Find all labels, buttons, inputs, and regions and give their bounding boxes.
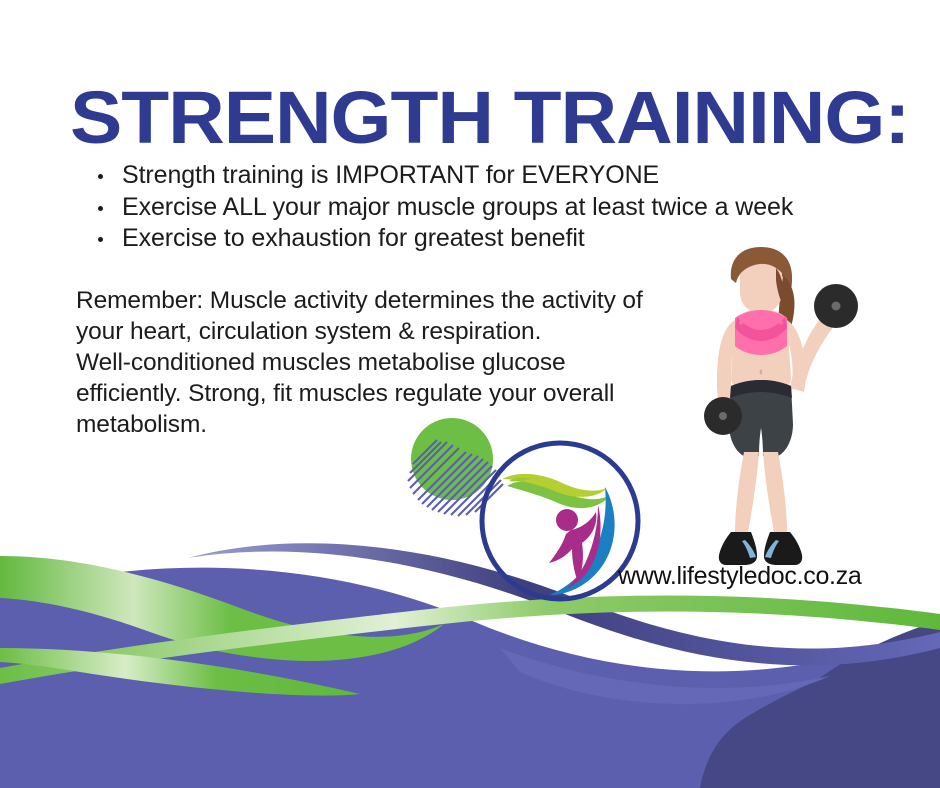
woman-bra-strap-right [778,316,783,325]
woman-shorts-right-leg [762,398,792,456]
woman-hair-top [731,247,792,298]
woman-right-shoe [764,532,802,565]
woman-right-hand [822,299,841,321]
list-item-label: Strength training is IMPORTANT for EVERY… [122,161,659,189]
bullet-dot-icon [98,237,103,242]
logo-swoosh-green [507,481,610,508]
woman-sports-bra [735,310,787,355]
woman-face [740,253,782,313]
list-item-label: Exercise to exhaustion for greatest bene… [122,224,585,252]
woman-torso [731,309,791,394]
woman-right-forearm [790,310,838,390]
woman-right-upper-arm [779,320,806,392]
logo-figure-head [556,509,578,531]
bullet-dot-icon [98,206,103,211]
logo-blue-ring [482,443,638,599]
remember-paragraph: Remember: Muscle activity determines the… [76,285,736,440]
wave-green-upper-left [0,556,444,661]
wave-green-ribbon-main [0,595,940,684]
page-title: STRENGTH TRAINING: [70,80,929,156]
wave-purple-main [0,568,940,788]
logo-swoosh-lime-tail [509,478,531,482]
woman-left-leg [735,452,759,532]
logo-figure-body [549,512,596,582]
website-url: www.lifestyledoc.co.za [618,562,862,591]
logo-figure-trail [566,505,601,589]
dumbbell-upper-center [832,302,841,311]
woman-navel [760,369,763,374]
woman-bra-shade [735,317,787,341]
woman-neck [753,300,769,322]
woman-bra-strap-left [739,316,744,325]
poster-canvas: STRENGTH TRAINING: Strength training is … [0,0,940,788]
woman-fringe [738,251,785,277]
wave-purple-dark-right-2 [735,620,940,788]
woman-left-shoe [719,532,757,565]
woman-right-leg [763,452,787,532]
logo-hatch-lines [408,440,503,516]
woman-shorts-waistband [730,380,792,398]
list-item-label: Exercise ALL your major muscle groups at… [122,193,793,221]
benefits-list: Strength training is IMPORTANT for EVERY… [86,160,886,255]
woman-ponytail [778,275,795,347]
logo-swoosh-blue [550,487,615,595]
list-item: Strength training is IMPORTANT for EVERY… [86,160,886,192]
bullet-dot-icon [98,174,103,179]
woman-left-shoe-accent [742,540,756,558]
list-item: Exercise to exhaustion for greatest bene… [86,223,886,255]
woman-right-shoe-accent [765,540,779,558]
logo-swoosh-lime [502,474,607,497]
wave-green-streak-left [0,648,360,696]
woman-hair-strand [776,268,784,305]
list-item: Exercise ALL your major muscle groups at… [86,192,886,224]
wave-purple-swoosh-right [500,648,830,704]
wave-purple-dark-right [700,628,940,788]
dumbbell-icon-upper [814,284,858,328]
woman-shorts [729,380,793,456]
